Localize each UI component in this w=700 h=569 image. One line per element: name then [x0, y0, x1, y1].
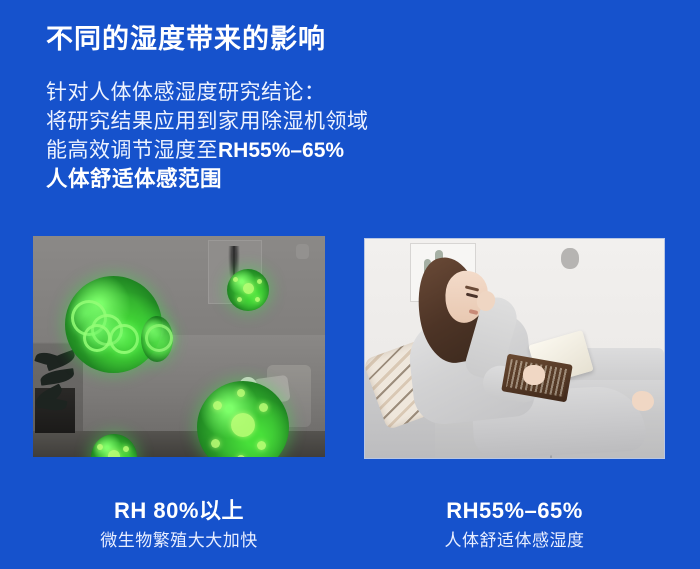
caption-comfort-humidity: RH55%–65% 人体舒适体感湿度 — [365, 498, 664, 554]
caption-title: RH 80%以上 — [33, 498, 325, 524]
body-copy-line-3: 能高效调节湿度至RH55%–65% — [46, 136, 369, 165]
body-copy: 针对人体体感湿度研究结论： 将研究结果应用到家用除湿机领域 能高效调节湿度至RH… — [46, 78, 369, 194]
caption-high-humidity: RH 80%以上 微生物繁殖大大加快 — [33, 498, 325, 554]
person-foot — [632, 391, 654, 411]
body-copy-line-1: 针对人体体感湿度研究结论： — [46, 78, 369, 107]
caption-subtitle: 微生物繁殖大大加快 — [33, 528, 325, 554]
plant-leaf — [40, 368, 75, 386]
caption-title: RH55%–65% — [365, 498, 664, 524]
photo-comfort-humidity — [365, 239, 664, 458]
photo-high-humidity — [33, 236, 325, 457]
wall-speaker-icon — [296, 244, 309, 259]
body-copy-line-4: 人体舒适体感范围 — [46, 165, 369, 194]
body-copy-line-3-prefix: 能高效调节湿度至 — [46, 139, 218, 162]
humidity-infographic-poster: 不同的湿度带来的影响 针对人体体感湿度研究结论： 将研究结果应用到家用除湿机领域… — [0, 0, 700, 569]
microbe-icon — [227, 269, 269, 311]
page-title: 不同的湿度带来的影响 — [46, 17, 326, 56]
dark-room-scene — [33, 236, 325, 457]
wall-speaker-icon — [561, 248, 579, 269]
bright-room-scene — [365, 239, 664, 458]
person-hand — [523, 365, 545, 385]
humidity-range-highlight: RH55%–65% — [218, 139, 344, 162]
microbe-icon — [141, 316, 173, 362]
body-copy-line-2: 将研究结果应用到家用除湿机领域 — [46, 107, 369, 136]
caption-subtitle: 人体舒适体感湿度 — [365, 528, 664, 554]
